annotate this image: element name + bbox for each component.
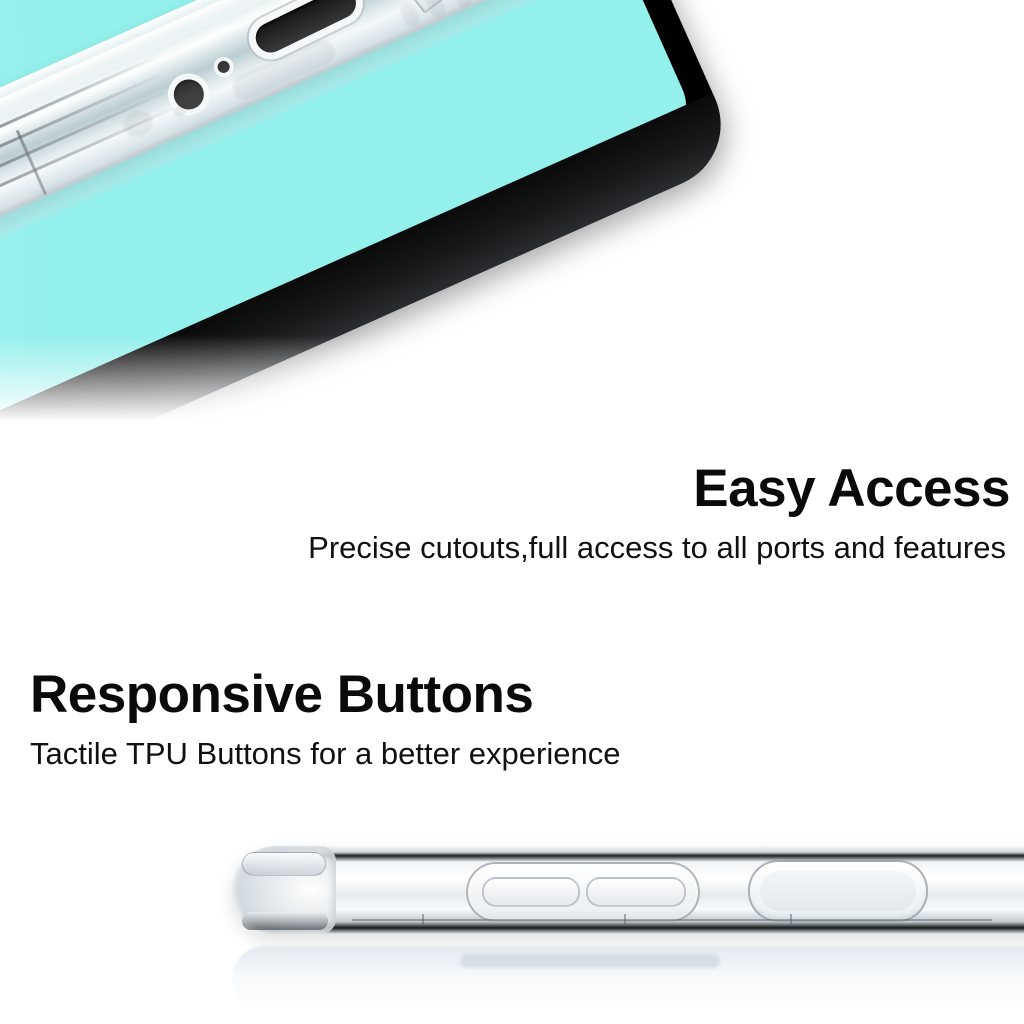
case-seam-line: [352, 919, 992, 921]
profile-reflection-highlight: [460, 954, 720, 968]
easy-access-photo: [0, 0, 1024, 455]
power-button: [748, 860, 928, 922]
volume-rocker-housing: [466, 862, 700, 922]
responsive-buttons-subtext: Tactile TPU Buttons for a better experie…: [30, 737, 1010, 771]
photo-bottom-fade: [0, 335, 1024, 455]
responsive-buttons-photo: [0, 828, 1024, 1024]
seam-tick-3: [790, 914, 792, 926]
easy-access-text-block: Easy Access Precise cutouts,full access …: [0, 462, 1024, 565]
volume-down-button: [586, 877, 686, 907]
responsive-buttons-text-block: Responsive Buttons Tactile TPU Buttons f…: [30, 668, 1010, 771]
easy-access-subtext: Precise cutouts,full access to all ports…: [0, 531, 1010, 565]
product-feature-page: Easy Access Precise cutouts,full access …: [0, 0, 1024, 1024]
responsive-buttons-heading: Responsive Buttons: [30, 668, 1010, 721]
case-lip-top: [242, 852, 326, 876]
seam-tick-1: [422, 914, 424, 926]
power-button-face: [760, 871, 916, 911]
seam-tick-2: [624, 914, 626, 926]
easy-access-heading: Easy Access: [0, 462, 1010, 515]
case-side-profile: [232, 846, 1024, 934]
volume-up-button: [482, 877, 580, 907]
case-corner-bumper-end: [232, 846, 336, 934]
case-lip-bottom: [242, 912, 328, 930]
